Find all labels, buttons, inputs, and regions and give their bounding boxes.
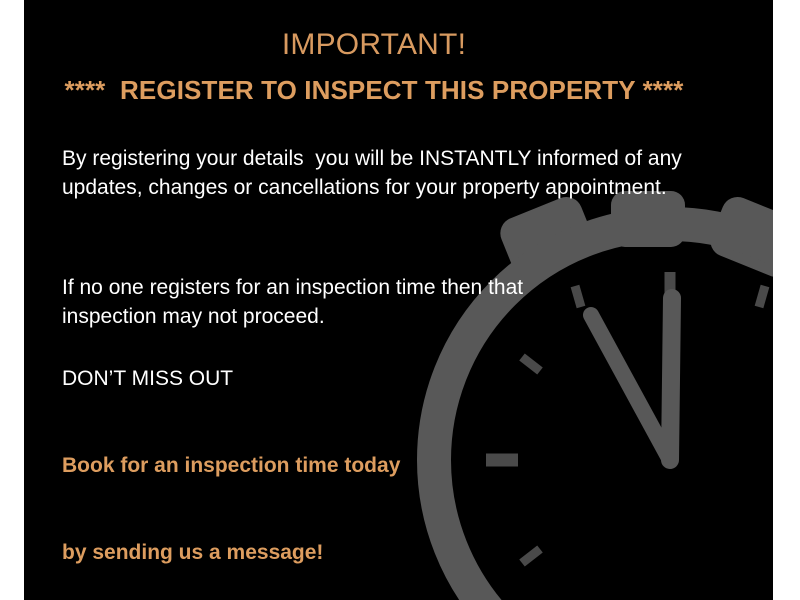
cta-heading-dont-miss-out: DON’T MISS OUT [62, 364, 233, 393]
cta-message-block: Book for an inspection time today by sen… [62, 393, 542, 600]
headline-important: IMPORTANT! [24, 28, 724, 61]
slide-background: IMPORTANT! **** REGISTER TO INSPECT THIS… [24, 0, 773, 600]
poster-text-layer: IMPORTANT! **** REGISTER TO INSPECT THIS… [24, 0, 773, 600]
headline-register-to-inspect: **** REGISTER TO INSPECT THIS PROPERTY *… [24, 76, 724, 105]
body-paragraph-no-registration: If no one registers for an inspection ti… [62, 273, 562, 331]
cta-line-send-message: by sending us a message! [62, 538, 542, 567]
poster-canvas: IMPORTANT! **** REGISTER TO INSPECT THIS… [0, 0, 800, 600]
body-paragraph-registering: By registering your details you will be … [62, 144, 722, 202]
cta-line-book-inspection: Book for an inspection time today [62, 451, 542, 480]
